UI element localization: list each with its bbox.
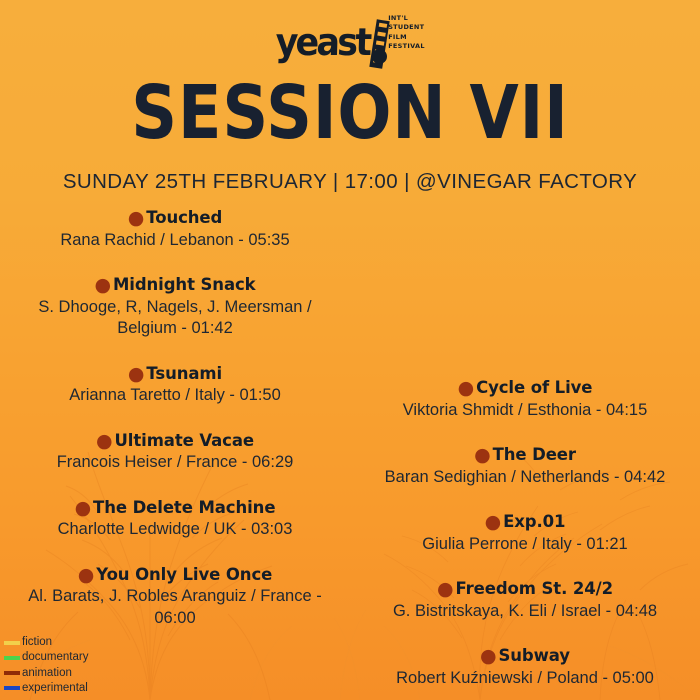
film-title: ●Freedom St. 24/2 [350,579,700,600]
film-credit: Charlotte Ledwidge / UK - 03:03 [0,519,350,540]
bullet-dot-icon: ● [128,207,144,229]
film-title: ●The Delete Machine [0,498,350,519]
film-credit: Francois Heiser / France - 06:29 [0,452,350,473]
poster-canvas: yeast INT'L STUDENT FILM FESTIVAL SESSIO… [0,0,700,700]
film-entry: ●Cycle of LiveViktoria Shmidt / Esthonia… [350,378,700,421]
film-entry: ●SubwayRobert Kuźniewski / Poland - 05:0… [350,646,700,689]
film-title-label: Subway [499,646,570,665]
film-credit: Arianna Taretto / Italy - 01:50 [0,385,350,406]
film-title: ●Touched [0,208,350,229]
film-credit: S. Dhooge, R, Nagels, J. Meersman / Belg… [0,297,350,340]
legend-item: documentary [4,650,88,665]
bullet-dot-icon: ● [75,497,91,519]
film-column-right: ●Cycle of LiveViktoria Shmidt / Esthonia… [350,208,700,700]
film-credit: Rana Rachid / Lebanon - 05:35 [0,230,350,251]
film-credit: Baran Sedighian / Netherlands - 04:42 [350,467,700,488]
film-title: ●Tsunami [0,364,350,385]
logo-wordmark-mark: yeast [275,27,377,58]
legend-item: animation [4,666,88,681]
bullet-dot-icon: ● [458,377,474,399]
film-title: ●You Only Live Once [0,565,350,586]
film-title-label: You Only Live Once [96,565,272,584]
bullet-dot-icon: ● [128,363,144,385]
film-title-label: Ultimate Vacae [115,431,254,450]
bullet-dot-icon: ● [78,564,94,586]
film-credit: G. Bistritskaya, K. Eli / Israel - 04:48 [350,601,700,622]
logo-tagline-line-4: FESTIVAL [388,42,425,51]
legend-label: fiction [22,635,52,650]
logo-tagline-line-2: STUDENT [388,23,425,32]
film-title: ●Subway [350,646,700,667]
film-title-label: Freedom St. 24/2 [456,579,613,598]
bullet-dot-icon: ● [94,274,110,296]
logo-blob-icon [372,49,387,64]
film-entry: ●Ultimate VacaeFrancois Heiser / France … [0,431,350,474]
logo-wordmark: yeast [275,27,370,58]
film-entry: ●TouchedRana Rachid / Lebanon - 05:35 [0,208,350,251]
legend-label: animation [22,666,72,681]
film-title: ●Midnight Snack [0,275,350,296]
film-title-label: Midnight Snack [113,275,256,294]
bullet-dot-icon: ● [96,430,112,452]
film-entry: ●Freedom St. 24/2G. Bistritskaya, K. Eli… [350,579,700,622]
session-meta: SUNDAY 25TH FEBRUARY | 17:00 | @VINEGAR … [0,170,700,194]
film-entry: ●You Only Live OnceAl. Barats, J. Robles… [0,565,350,630]
film-title-label: The Deer [493,445,576,464]
legend-label: documentary [22,650,88,665]
legend-color-swatch [4,671,20,675]
legend-color-swatch [4,656,20,660]
logo-tagline-line-3: FILM [388,33,425,42]
legend-item: experimental [4,681,88,696]
film-entry: ●The DeerBaran Sedighian / Netherlands -… [350,445,700,488]
logo-tagline-line-1: INT'L [388,14,425,23]
film-credit: Robert Kuźniewski / Poland - 05:00 [350,668,700,689]
film-title-label: The Delete Machine [93,498,275,517]
film-title-label: Exp.01 [503,512,565,531]
film-title-label: Tsunami [146,364,222,383]
legend-label: experimental [22,681,88,696]
film-title-label: Cycle of Live [476,378,592,397]
film-title-label: Touched [146,208,222,227]
legend-item: fiction [4,635,88,650]
bullet-dot-icon: ● [474,444,490,466]
film-column-left: ●TouchedRana Rachid / Lebanon - 05:35●Mi… [0,208,350,653]
film-entry: ●TsunamiArianna Taretto / Italy - 01:50 [0,364,350,407]
bullet-dot-icon: ● [437,578,453,600]
logo-tagline: INT'L STUDENT FILM FESTIVAL [388,14,425,58]
film-credit: Giulia Perrone / Italy - 01:21 [350,534,700,555]
film-entry: ●The Delete MachineCharlotte Ledwidge / … [0,498,350,541]
legend-color-swatch [4,686,20,690]
film-credit: Viktoria Shmidt / Esthonia - 04:15 [350,400,700,421]
film-title: ●Ultimate Vacae [0,431,350,452]
page-title: SESSION VII [49,76,651,150]
film-title: ●Exp.01 [350,512,700,533]
category-legend: fictiondocumentaryanimationexperimental [4,635,88,696]
film-credit: Al. Barats, J. Robles Aranguiz / France … [0,586,350,629]
festival-logo: yeast INT'L STUDENT FILM FESTIVAL [0,14,700,58]
bullet-dot-icon: ● [485,511,501,533]
legend-color-swatch [4,641,20,645]
film-title: ●The Deer [350,445,700,466]
film-entry: ●Midnight SnackS. Dhooge, R, Nagels, J. … [0,275,350,340]
film-title: ●Cycle of Live [350,378,700,399]
film-entry: ●Exp.01Giulia Perrone / Italy - 01:21 [350,512,700,555]
bullet-dot-icon: ● [480,645,496,667]
